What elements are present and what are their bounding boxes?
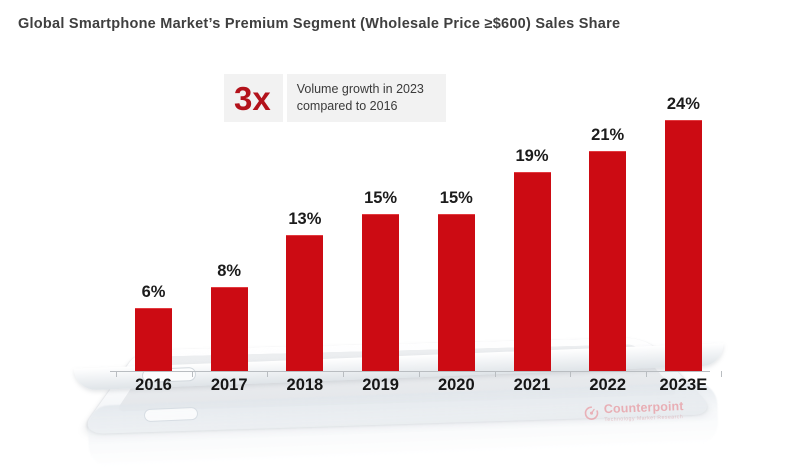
axis-tick <box>419 371 420 377</box>
logo-name: Counterpoint <box>604 400 684 416</box>
bar <box>286 235 323 371</box>
bar-value-label: 6% <box>124 283 184 302</box>
bar-value-label: 13% <box>275 210 335 229</box>
bar <box>362 214 399 371</box>
axis-tick <box>116 371 117 377</box>
growth-callout: 3x Volume growth in 2023 compared to 201… <box>224 74 446 122</box>
logo-wordmark: Counterpoint Technology Market Research <box>604 400 684 423</box>
category-label: 2018 <box>265 376 345 395</box>
bar-value-label: 8% <box>199 262 259 281</box>
bar <box>665 120 702 371</box>
bar <box>211 287 248 371</box>
callout-line-1: Volume growth in 2023 <box>297 81 424 98</box>
category-label: 2016 <box>114 376 194 395</box>
x-axis-line <box>110 371 710 372</box>
category-label: 2019 <box>341 376 421 395</box>
axis-tick <box>570 371 571 377</box>
axis-tick <box>646 371 647 377</box>
category-label: 2022 <box>568 376 648 395</box>
category-label: 2023E <box>643 376 723 395</box>
bar <box>135 308 172 371</box>
callout-multiplier: 3x <box>224 74 283 122</box>
axis-tick <box>267 371 268 377</box>
axis-tick <box>495 371 496 377</box>
bar-value-label: 21% <box>578 126 638 145</box>
bar-value-label: 15% <box>426 189 486 208</box>
bar <box>589 151 626 371</box>
bar <box>438 214 475 371</box>
callout-line-2: compared to 2016 <box>297 98 424 115</box>
bar-value-label: 15% <box>351 189 411 208</box>
counterpoint-c-icon <box>584 406 600 422</box>
bar-value-label: 19% <box>502 147 562 166</box>
callout-text: Volume growth in 2023 compared to 2016 <box>287 74 446 122</box>
axis-tick <box>721 371 722 377</box>
category-label: 2017 <box>189 376 269 395</box>
counterpoint-logo: Counterpoint Technology Market Research <box>584 400 684 424</box>
bar-value-label: 24% <box>653 95 713 114</box>
axis-tick <box>343 371 344 377</box>
bar <box>514 172 551 371</box>
category-label: 2020 <box>416 376 496 395</box>
category-label: 2021 <box>492 376 572 395</box>
axis-tick <box>192 371 193 377</box>
